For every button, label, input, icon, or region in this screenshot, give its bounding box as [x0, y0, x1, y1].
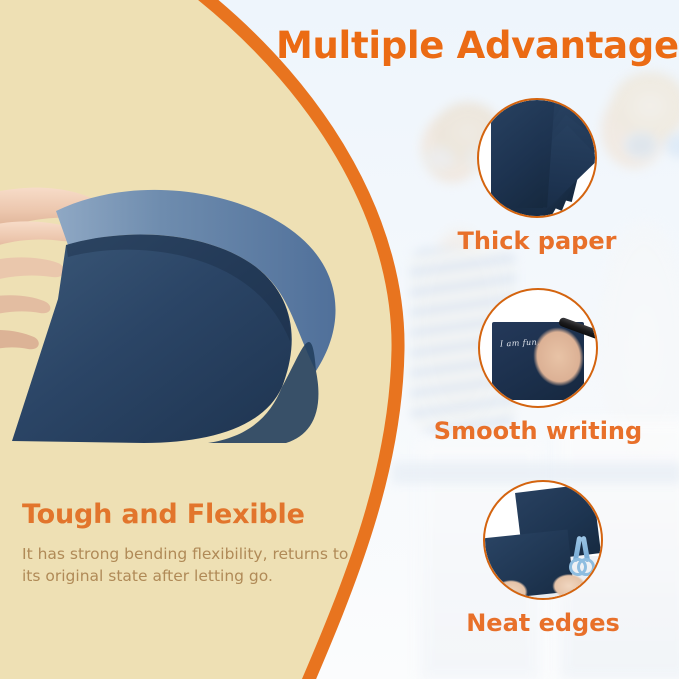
feature-image-circle — [477, 98, 597, 218]
left-hand — [489, 578, 535, 598]
hero-description: It has strong bending flexibility, retur… — [22, 543, 352, 589]
hero-bending-paper-image — [0, 175, 344, 475]
product-feature-banner: Multiple Advantages Tough and Flexible I… — [0, 0, 679, 679]
feature-neat-edges: Neat edges — [483, 480, 651, 637]
hero-title: Tough and Flexible — [22, 500, 352, 530]
paper-sheet-front — [491, 110, 543, 208]
smooth-writing-illustration: I am fun, and — [480, 290, 596, 406]
feature-label: Smooth writing — [416, 417, 660, 445]
neat-edges-illustration — [485, 482, 601, 598]
feature-image-circle: I am fun, and — [478, 288, 598, 408]
right-hand — [547, 572, 595, 598]
pen-icon — [558, 317, 596, 347]
feature-image-circle — [483, 480, 603, 600]
scissors-icon — [569, 536, 595, 576]
feature-label: Thick paper — [427, 227, 647, 255]
page-title: Multiple Advantages — [276, 24, 679, 67]
feature-label: Neat edges — [435, 609, 651, 637]
feature-smooth-writing: I am fun, and Smooth writing — [478, 288, 660, 445]
thick-paper-illustration — [479, 100, 595, 216]
feature-thick-paper: Thick paper — [477, 98, 647, 255]
hero-text-block: Tough and Flexible It has strong bending… — [22, 500, 352, 588]
